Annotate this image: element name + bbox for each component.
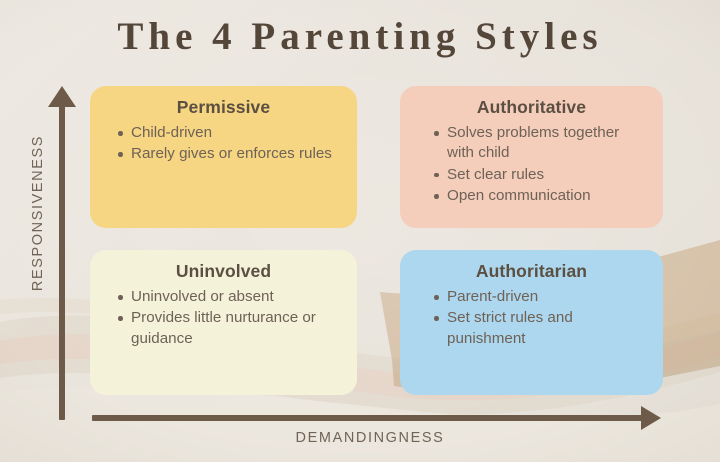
list-item: Set strict rules and punishment (434, 308, 649, 349)
quadrant-bullets-authoritative: Solves problems together with child Set … (400, 123, 663, 206)
list-item: Rarely gives or enforces rules (118, 144, 343, 164)
quadrant-title-authoritarian: Authoritarian (400, 261, 663, 282)
quadrant-bullets-uninvolved: Uninvolved or absent Provides little nur… (90, 287, 357, 349)
list-item: Provides little nurturance or guidance (118, 308, 343, 349)
quadrant-card-permissive: Permissive Child-driven Rarely gives or … (90, 86, 357, 228)
quadrant-bullets-permissive: Child-driven Rarely gives or enforces ru… (90, 123, 357, 165)
demandingness-axis-line (92, 415, 648, 421)
quadrant-title-uninvolved: Uninvolved (90, 261, 357, 282)
list-item: Parent-driven (434, 287, 649, 307)
list-item: Child-driven (118, 123, 343, 143)
quadrant-title-authoritative: Authoritative (400, 97, 663, 118)
quadrant-card-authoritative: Authoritative Solves problems together w… (400, 86, 663, 228)
responsiveness-axis-label: RESPONSIVENESS (30, 113, 46, 313)
list-item: Set clear rules (434, 165, 649, 185)
list-item: Solves problems together with child (434, 123, 649, 164)
responsiveness-arrow-icon (48, 86, 76, 107)
quadrant-card-uninvolved: Uninvolved Uninvolved or absent Provides… (90, 250, 357, 395)
quadrant-title-permissive: Permissive (90, 97, 357, 118)
quadrant-bullets-authoritarian: Parent-driven Set strict rules and punis… (400, 287, 663, 349)
list-item: Uninvolved or absent (118, 287, 343, 307)
demandingness-arrow-icon (641, 406, 661, 430)
page-title: The 4 Parenting Styles (0, 14, 720, 59)
quadrant-card-authoritarian: Authoritarian Parent-driven Set strict r… (400, 250, 663, 395)
responsiveness-axis-line (59, 102, 65, 420)
parenting-styles-infographic: The 4 Parenting Styles RESPONSIVENESS DE… (0, 0, 720, 462)
demandingness-axis-label: DEMANDINGNESS (92, 430, 648, 446)
list-item: Open communication (434, 186, 649, 206)
